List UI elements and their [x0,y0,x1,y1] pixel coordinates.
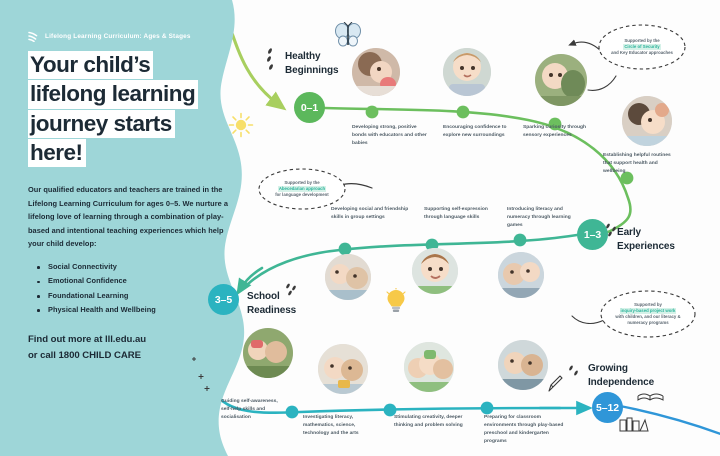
stage-badge-label: 1–3 [584,229,601,241]
stage-title-early-experiences: Early Experiences [617,226,675,253]
stage-title-growing-independence: Growing Independence [588,362,654,389]
milestone-node [286,406,299,419]
callout-post: with children, and our literacy & numera… [609,314,687,326]
milestone-node [457,106,470,119]
infographic-canvas: Supported by the Circle of Security and … [0,0,720,456]
develop-areas-list: Social Connectivity Emotional Confidence… [28,260,228,318]
photo-baby-bonding [352,48,400,96]
page-title: Your child’s lifelong learning journey s… [28,51,228,167]
stage-badge-0-1[interactable]: 0–1 [294,92,325,123]
milestone-caption: Establishing helpful routines that suppo… [603,152,681,176]
photo-language-skills [412,248,458,294]
stage-title-line: Experiences [617,240,675,254]
milestone-caption: Stimulating creativity, deeper thinking … [394,414,472,430]
stage-badge-label: 5–12 [596,402,619,414]
stage-title-line: School [247,290,296,304]
stage-title-school-readiness: School Readiness [247,290,296,317]
cta-line-phone[interactable]: or call 1800 CHILD CARE [28,348,228,364]
list-item: Social Connectivity [28,260,228,274]
headline-line: here! [28,139,86,167]
stage-title-healthy-beginnings: Healthy Beginnings [285,50,338,77]
photo-preschool [498,340,548,390]
milestone-caption: Supporting self-expression through langu… [424,206,502,222]
stage-title-line: Growing [588,362,654,376]
eyebrow-label: Lifelong Learning Curriculum: Ages & Sta… [45,33,191,40]
stage-title-line: Healthy [285,50,338,64]
photo-sensory-play [535,54,587,106]
milestone-node [514,234,527,247]
milestone-caption: Introducing literacy and numeracy throug… [507,206,585,230]
intro-panel: Lifelong Learning Curriculum: Ages & Sta… [0,0,268,456]
cta-line-website[interactable]: Find out more at lll.edu.au [28,332,228,348]
milestone-caption: Preparing for classroom environments thr… [484,414,568,446]
photo-learning-games [498,252,544,298]
headline-line: journey starts [28,110,175,138]
callout-post: and Key Educator approaches [611,50,673,56]
milestone-node [366,106,379,119]
list-item: Emotional Confidence [28,274,228,288]
photo-routines [622,96,672,146]
milestone-caption: Guiding self-awareness, self-help skills… [221,398,283,422]
headline-line: Your child’s [28,51,153,79]
stage-title-line: Independence [588,376,654,390]
milestone-caption: Developing social and friendship skills … [331,206,409,222]
stage-title-line: Early [617,226,675,240]
stage-badge-5-12[interactable]: 5–12 [592,392,623,423]
photo-self-help [243,328,293,378]
intro-body-text: Our qualified educators and teachers are… [28,183,228,250]
stage-badge-label: 0–1 [301,102,318,114]
milestone-node [481,402,494,415]
contact-cta: Find out more at lll.edu.au or call 1800… [28,332,228,363]
photo-baby-exploring [443,48,491,96]
eyebrow: Lifelong Learning Curriculum: Ages & Sta… [28,30,228,42]
callout-post: for language development [275,192,328,198]
photo-creativity [404,342,454,392]
brand-mark-icon [28,30,39,42]
callout-circle-of-security: Supported by the Circle of Security and … [596,22,688,72]
headline-line: lifelong learning [28,80,198,108]
stage-badge-label: 3–5 [215,294,232,306]
milestone-caption: Encouraging confidence to explore new su… [443,124,521,140]
stage-title-line: Readiness [247,304,296,318]
list-item: Foundational Learning [28,289,228,303]
photo-group-play [325,254,371,300]
callout-inquiry-based: Supported by inquiry-based project work … [598,288,698,340]
milestone-caption: Investigating literacy, mathematics, sci… [303,414,381,438]
milestone-caption: Sparking curiosity through sensory exper… [523,124,601,140]
milestone-caption: Developing strong, positive bonds with e… [352,124,430,148]
stage-title-line: Beginnings [285,64,338,78]
photo-stem-learning [318,344,368,394]
list-item: Physical Health and Wellbeing [28,303,228,317]
stage-badge-3-5[interactable]: 3–5 [208,284,239,315]
